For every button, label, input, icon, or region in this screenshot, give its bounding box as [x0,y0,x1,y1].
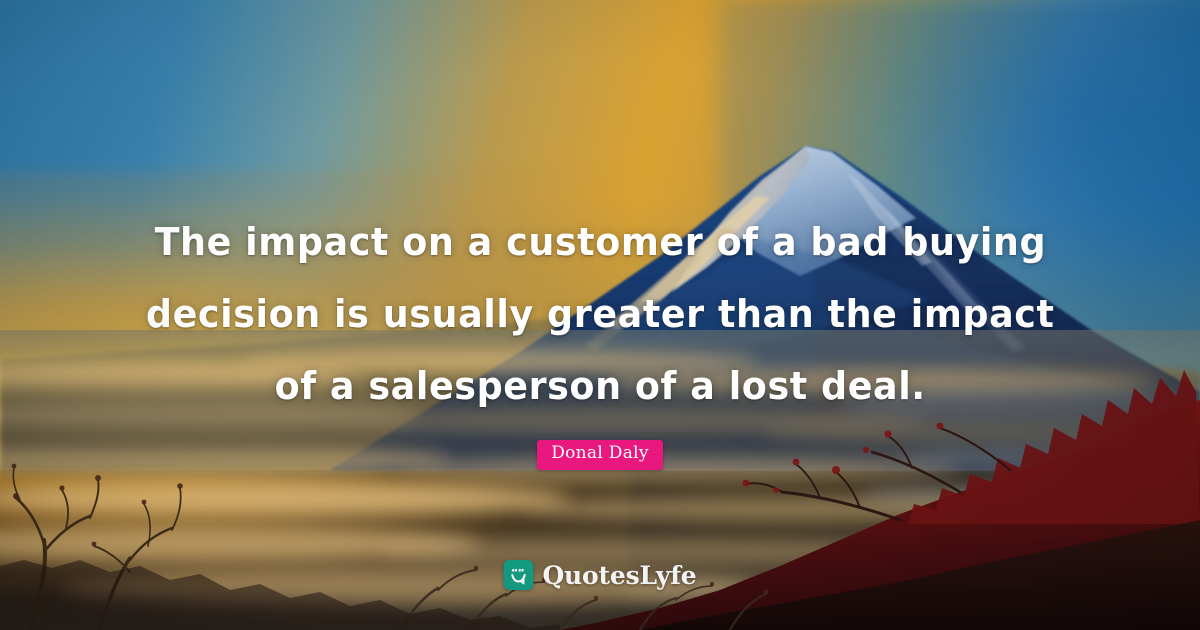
author-badge[interactable]: Donal Daly [537,440,663,470]
quote-smiley-icon [503,560,533,590]
quote-text-block: The impact on a customer of a bad buying… [0,0,1200,630]
quote-line-3: of a salesperson of a lost deal. [274,350,925,422]
quote-line-2: decision is usually greater than the imp… [146,278,1055,350]
quote-line-1: The impact on a customer of a bad buying [154,206,1046,278]
quoteslyfe-logo[interactable]: QuotesLyfe [503,560,696,590]
quote-card: The impact on a customer of a bad buying… [0,0,1200,630]
quoteslyfe-wordmark: QuotesLyfe [542,563,696,588]
